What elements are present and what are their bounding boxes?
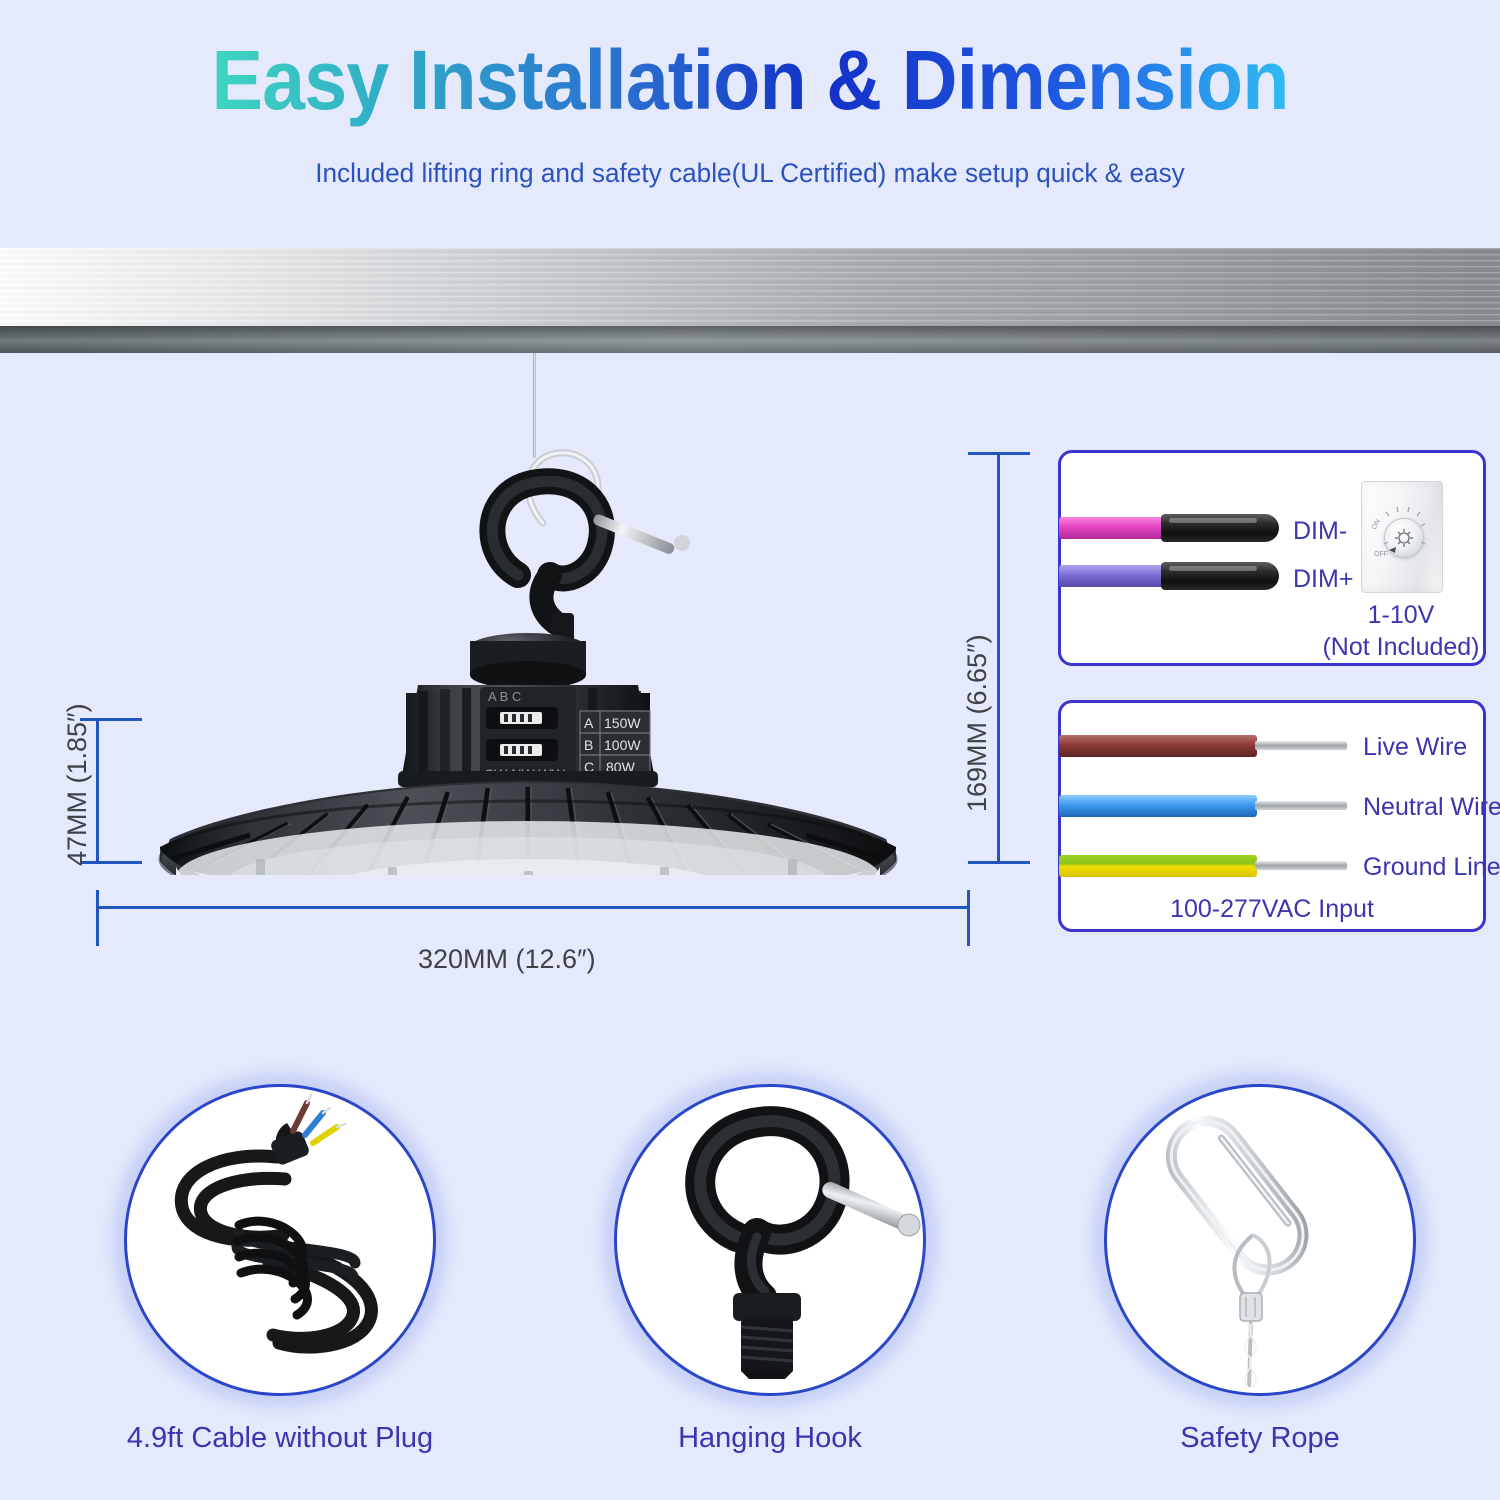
height-dim-label: 47MM (1.85″) [62, 703, 93, 866]
ground-wire [1059, 855, 1257, 877]
live-wire [1059, 735, 1257, 757]
dimming-wire-panel: DIM- DIM+ ON OFF [1058, 450, 1486, 666]
height-dim-line [96, 718, 99, 864]
dim-plus-wire-tip [1161, 562, 1279, 590]
dim-minus-wire [1059, 517, 1165, 539]
live-wire-label: Live Wire [1363, 733, 1467, 762]
dim-plus-label: DIM+ [1293, 565, 1353, 594]
accessory-caption: Hanging Hook [600, 1422, 940, 1455]
page-subtitle: Included lifting ring and safety cable(U… [23, 158, 1478, 189]
neutral-wire-conductor [1255, 801, 1347, 810]
circle-face [614, 1084, 926, 1396]
width-dim-label: 320MM (12.6″) [418, 944, 596, 975]
neutral-wire [1059, 795, 1257, 817]
carabiner-rope-icon [1107, 1087, 1419, 1399]
ground-wire-label: Ground Line [1363, 853, 1500, 882]
ground-wire-conductor [1255, 861, 1347, 870]
page-title: Easy Installation & Dimension [60, 32, 1440, 129]
dimmer-off-label: OFF [1374, 551, 1388, 558]
dim-plus-wire [1059, 565, 1165, 587]
wattage-legend: A 150W B 100W C 80W [580, 711, 650, 777]
circle-face [124, 1084, 436, 1396]
accessory-caption: Safety Rope [1090, 1422, 1430, 1455]
lifting-hook-group [492, 453, 690, 645]
power-wire-panel: Live Wire Neutral Wire Ground Line 100-2… [1058, 700, 1486, 932]
beam-face [0, 248, 1500, 326]
width-dim-cap-left [96, 890, 99, 946]
total-height-dim-cap-top [968, 452, 1030, 455]
dimmer-knob-markings: ON OFF [1362, 482, 1444, 594]
dimmer-device-name: 1-10V [1281, 601, 1500, 630]
accessory-caption: 4.9ft Cable without Plug [110, 1422, 450, 1455]
dim-minus-wire-tip [1161, 514, 1279, 542]
power-input-label: 100-277VAC Input [1061, 895, 1483, 924]
total-height-dim-cap-bottom [968, 861, 1030, 864]
dim-minus-label: DIM- [1293, 517, 1347, 546]
neutral-wire-label: Neutral Wire [1363, 793, 1500, 822]
hook-icon [617, 1087, 929, 1399]
dimmer-device-note: (Not Included) [1281, 633, 1500, 662]
dimmer-switch-plate[interactable]: ON OFF [1361, 481, 1443, 593]
switch-row-a-label: A B C [488, 689, 521, 704]
infographic-root: Easy Installation & Dimension Included l… [0, 0, 1500, 1500]
svg-text:B: B [584, 737, 593, 753]
svg-text:150W: 150W [604, 715, 641, 731]
ceiling-beam [0, 248, 1500, 353]
accessory-safety-rope: Safety Rope [1090, 1070, 1430, 1410]
dimmer-on-label: ON [1371, 518, 1382, 531]
coiled-cable-icon [127, 1087, 439, 1399]
width-dim-line [96, 906, 970, 909]
driver-housing: A B C CW NW WW [398, 633, 658, 787]
ufo-high-bay-light: A B C CW NW WW [88, 435, 968, 875]
circle-face [1104, 1084, 1416, 1396]
svg-text:A: A [584, 715, 594, 731]
accessory-hook: Hanging Hook [600, 1070, 940, 1410]
total-height-dim-label: 169MM (6.65″) [962, 634, 993, 812]
width-dim-cap-right [967, 890, 970, 946]
accessory-cable: 4.9ft Cable without Plug [110, 1070, 450, 1410]
live-wire-conductor [1255, 741, 1347, 750]
svg-text:100W: 100W [604, 737, 641, 753]
total-height-dim-line [997, 452, 1000, 863]
beam-edge [0, 326, 1500, 353]
fixture-illustration: A B C CW NW WW [88, 435, 968, 875]
